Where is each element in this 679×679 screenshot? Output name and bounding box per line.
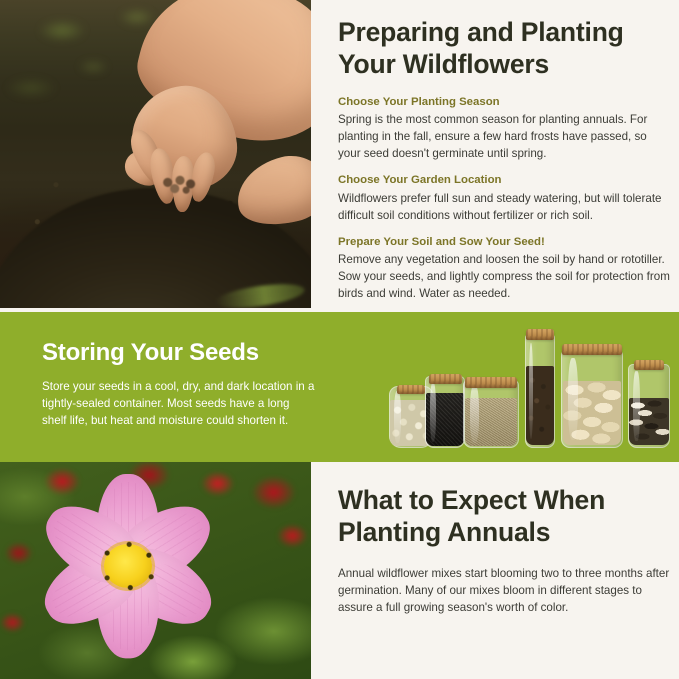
section-preparing-and-planting: Preparing and Planting Your Wildflowers …	[0, 0, 679, 312]
section-one-heading: Preparing and Planting Your Wildflowers	[338, 16, 670, 81]
glass-highlight	[430, 382, 436, 442]
body-planting-season: Spring is the most common season for pla…	[338, 111, 670, 162]
cork-lid	[429, 374, 462, 384]
seeds-in-palm	[158, 172, 202, 198]
section-two-text: Storing Your Seeds Store your seeds in a…	[42, 340, 317, 429]
section-three-heading: What to Expect When Planting Annuals	[338, 484, 670, 549]
body-prepare-soil: Remove any vegetation and loosen the soi…	[338, 251, 670, 302]
glass-highlight	[633, 371, 640, 442]
glass-highlight	[568, 358, 578, 440]
text-block: Choose Your Garden Location Wildflowers …	[338, 173, 670, 223]
cork-lid	[465, 377, 517, 388]
section-three-body: Annual wildflower mixes start blooming t…	[338, 565, 670, 616]
section-three-text: What to Expect When Planting Annuals Ann…	[338, 484, 670, 616]
jar-tall-peppercorn	[525, 334, 555, 448]
section-storing-your-seeds: Storing Your Seeds Store your seeds in a…	[0, 312, 679, 462]
jar-pumpkin-seeds	[561, 350, 623, 448]
text-block: Choose Your Planting Season Spring is th…	[338, 95, 670, 162]
subheading-planting-season: Choose Your Planting Season	[338, 95, 670, 110]
subheading-garden-location: Choose Your Garden Location	[338, 173, 670, 188]
section-two-body: Store your seeds in a cool, dry, and dar…	[42, 378, 317, 429]
infographic-page: Preparing and Planting Your Wildflowers …	[0, 0, 679, 679]
subheading-prepare-soil: Prepare Your Soil and Sow Your Seed!	[338, 235, 670, 250]
flower-center-disc	[104, 544, 152, 588]
jar-sunflower-seeds	[628, 364, 670, 448]
jar-sandy-seeds	[463, 380, 519, 448]
cork-lid	[634, 360, 664, 370]
glass-highlight	[394, 391, 401, 443]
glass-highlight	[470, 385, 479, 442]
section-one-text: Preparing and Planting Your Wildflowers …	[338, 16, 670, 302]
section-two-heading: Storing Your Seeds	[42, 340, 317, 367]
text-block: Prepare Your Soil and Sow Your Seed! Rem…	[338, 235, 670, 302]
body-garden-location: Wildflowers prefer full sun and steady w…	[338, 190, 670, 224]
cork-lid	[562, 344, 622, 355]
pink-cosmos-bloom	[10, 466, 246, 666]
cosmos-flower-photo	[0, 462, 311, 679]
cork-lid	[397, 385, 425, 394]
cork-lid	[526, 329, 554, 340]
soil-planting-photo	[0, 0, 311, 308]
seed-jars-photo	[385, 326, 667, 448]
jar-dark-seeds	[425, 376, 465, 448]
section-what-to-expect: What to Expect When Planting Annuals Ann…	[0, 462, 679, 679]
